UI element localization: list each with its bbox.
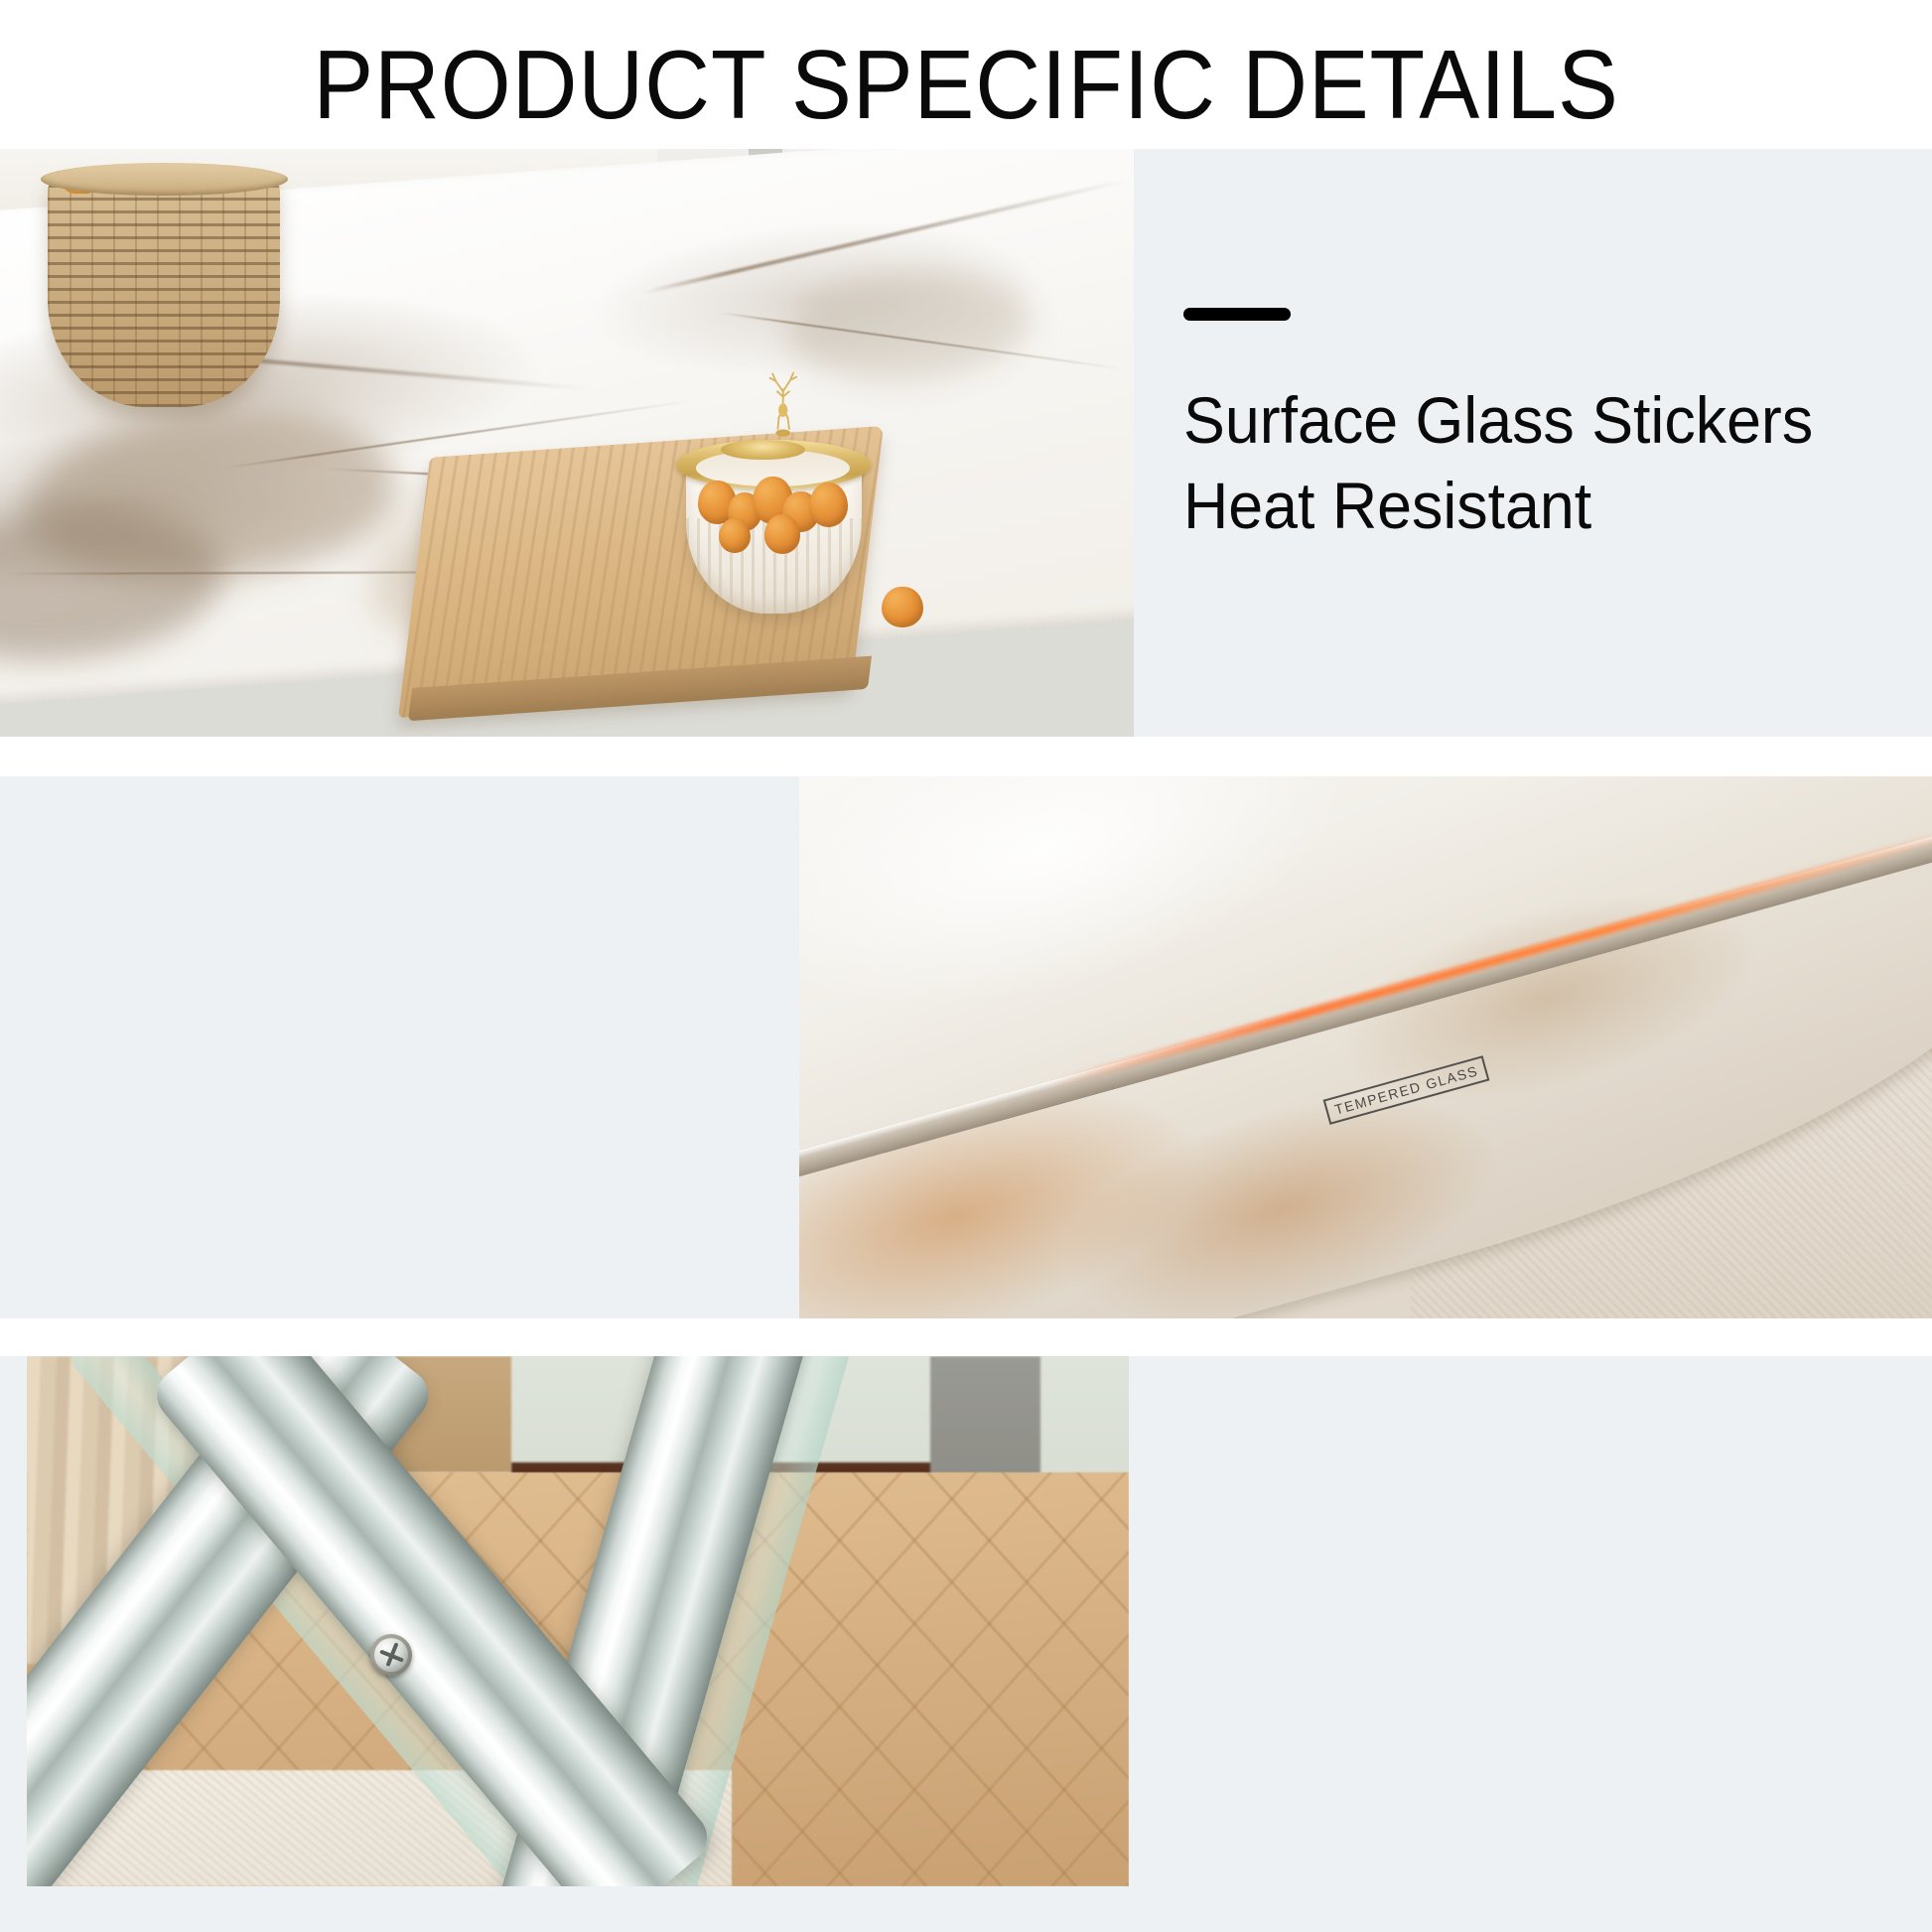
wicker-basket	[48, 173, 280, 408]
feature-image-metal-legs	[27, 1356, 1129, 1886]
bolt-screw	[370, 1634, 412, 1676]
gold-deer-ornament	[754, 360, 812, 449]
feature-line-2: Heat Resistant	[1183, 464, 1813, 549]
fruit	[809, 483, 848, 527]
feature-line-1: Surface Glass Stickers	[1183, 378, 1813, 464]
feature-panel-curved-edges: TEMPERED GLASS Curved Edges Simple And E…	[0, 776, 1932, 1318]
fruit	[764, 514, 801, 554]
page-title: PRODUCT SPECIFIC DETAILS	[68, 34, 1864, 136]
feature-text-surface-glass-stickers: Surface Glass Stickers Heat Resistant	[1183, 308, 1847, 549]
feature-panel-surface-glass-stickers: Surface Glass Stickers Heat Resistant	[0, 149, 1932, 737]
feature-image-surface-glass-stickers	[0, 149, 1134, 737]
fruit	[882, 587, 922, 627]
feature-image-curved-edges: TEMPERED GLASS	[799, 776, 1932, 1318]
feature-panel-metal-legs: Metal Legs Stable Support	[0, 1356, 1932, 1932]
fruit	[719, 518, 751, 554]
accent-rule-icon	[1183, 308, 1291, 321]
